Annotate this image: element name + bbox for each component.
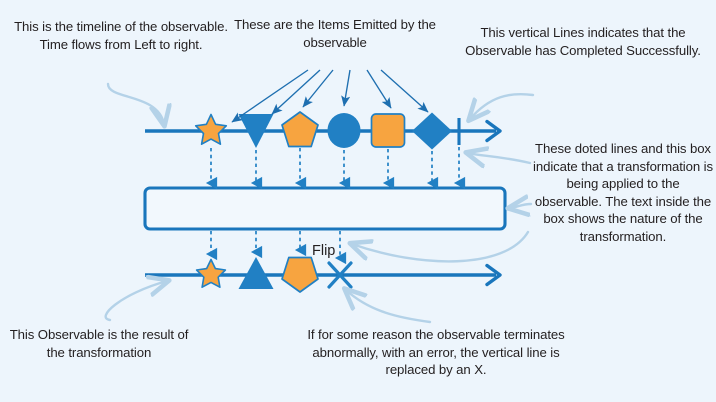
operator-name-label: Flip [312,243,335,259]
marble-pentagon-source[interactable] [282,112,318,147]
annotation-error-terminator: If for some reason the observable termin… [296,326,576,379]
connector-transform-box [510,204,531,208]
marble-circle-source[interactable] [328,113,361,148]
marble-pentagon-flipped-result[interactable] [282,258,318,293]
annotation-timeline: This is the timeline of the observable. … [8,18,234,53]
annotation-transformation: These doted lines and this box indicate … [532,140,714,246]
annotation-completion: This vertical Lines indicates that the O… [458,24,708,59]
result-timeline-axis [145,266,500,285]
connector-complete-note [470,94,533,119]
annotation-items-emitted: These are the Items Emitted by the obser… [226,16,444,51]
marble-diagram-canvas: This is the timeline of the observable. … [0,0,716,402]
marble-diamond-source[interactable] [412,113,452,150]
marble-square-source[interactable] [372,114,405,147]
operator-box[interactable] [145,188,505,229]
marble-triangle-up-result[interactable] [239,257,274,289]
connector-timeline-note [108,84,164,124]
connector-error-note [346,290,430,322]
marble-star-source[interactable] [196,115,227,145]
connector-transform-dotted [468,153,530,163]
dotted-links-source-to-box [211,147,459,183]
marble-star-result[interactable] [197,260,226,288]
annotation-result-observable: This Observable is the result of the tra… [4,326,194,361]
connector-result-note [106,281,167,320]
connector-transform-label [352,232,528,261]
